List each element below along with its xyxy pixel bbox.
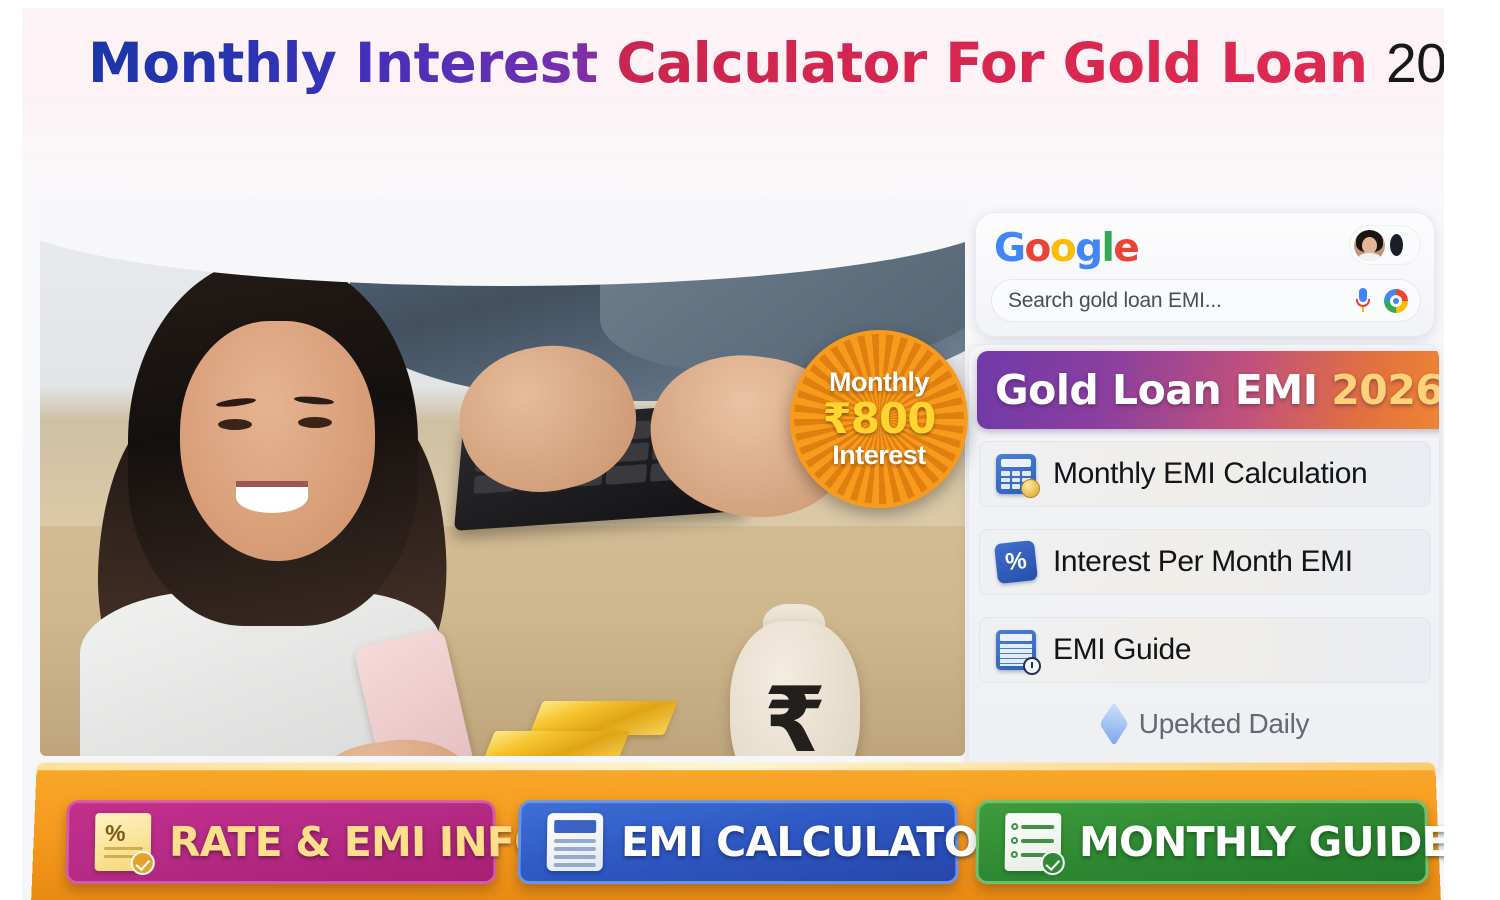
- google-logo-e: e: [1113, 226, 1138, 271]
- emi-calculator-label: EMI CALCULATOR: [621, 818, 1009, 866]
- top-margin: [0, 0, 1500, 8]
- google-logo-g1: G: [994, 226, 1025, 271]
- list-item[interactable]: % Interest Per Month EMI: [979, 529, 1431, 595]
- woman-smile: [236, 481, 308, 513]
- left-margin: [0, 0, 22, 900]
- calculator-coin-icon: [996, 454, 1036, 494]
- panel-banner-title: Gold Loan EMI 2026: [995, 366, 1440, 414]
- woman-face: [180, 321, 375, 561]
- banner-title-text: Gold Loan EMI: [995, 366, 1331, 414]
- badge-line-3: Interest: [832, 441, 926, 470]
- status-badge: Monthly ₹800 Interest: [790, 330, 968, 508]
- poster-canvas: Monthly Interest Calculator For Gold Loa…: [0, 0, 1500, 900]
- monthly-guide-button[interactable]: MONTHLY GUIDE: [975, 800, 1428, 884]
- title-part-calculator: Calculator For Gold Loan: [616, 31, 1386, 95]
- banner-year: 2026: [1331, 366, 1440, 414]
- gold-bars: [440, 701, 680, 756]
- list-item-label: EMI Guide: [1053, 633, 1191, 667]
- panel-footer-label: Upekted Daily: [1139, 708, 1309, 740]
- results-panel: Gold Loan EMI 2026 Monthly EMI Calculati…: [968, 344, 1440, 776]
- spreadsheet-clock-icon: [996, 630, 1036, 670]
- google-logo-g2: g: [1075, 226, 1101, 271]
- google-logo-l: l: [1102, 226, 1114, 271]
- google-logo-o1: o: [1025, 226, 1050, 271]
- microphone-icon[interactable]: [1355, 288, 1371, 313]
- monthly-guide-label: MONTHLY GUIDE: [1079, 818, 1449, 866]
- account-area[interactable]: [1349, 225, 1421, 265]
- google-logo-o2: o: [1050, 226, 1075, 271]
- title-part-interest: Interest: [355, 31, 616, 95]
- list-item[interactable]: EMI Guide: [979, 617, 1431, 683]
- rupee-symbol: ₹: [730, 666, 860, 756]
- percent-document-icon: %: [95, 813, 152, 871]
- avatar[interactable]: [1354, 230, 1385, 261]
- title-part-monthly: Monthly: [88, 31, 355, 95]
- checklist-icon: [1005, 813, 1062, 871]
- search-input[interactable]: Search gold loan EMI...: [991, 279, 1421, 322]
- right-margin: [1444, 0, 1500, 900]
- sparkle-icon: [1099, 702, 1128, 747]
- calculator-icon: [547, 813, 604, 871]
- page-title: Monthly Interest Calculator For Gold Loa…: [88, 22, 1388, 104]
- emi-calculator-button[interactable]: EMI CALCULATOR: [517, 800, 958, 884]
- rate-emi-info-button[interactable]: % RATE & EMI INFO: [65, 800, 496, 884]
- badge-amount: ₹800: [823, 397, 936, 442]
- search-placeholder: Search gold loan EMI...: [1008, 289, 1355, 313]
- list-item[interactable]: Monthly EMI Calculation: [979, 441, 1431, 507]
- google-logo: Google: [994, 227, 1138, 271]
- google-search-card: Google Search gold loan EMI...: [975, 212, 1435, 337]
- rate-emi-info-label: RATE & EMI INFO: [169, 818, 549, 866]
- panel-footer: Upekted Daily: [979, 695, 1431, 753]
- google-lens-icon[interactable]: [1384, 289, 1408, 313]
- list-item-label: Interest Per Month EMI: [1053, 545, 1353, 579]
- panel-banner: Gold Loan EMI 2026: [977, 351, 1440, 429]
- overflow-menu-icon[interactable]: [1390, 234, 1403, 256]
- badge-line-1: Monthly: [829, 368, 929, 397]
- percent-icon: %: [994, 540, 1038, 584]
- list-item-label: Monthly EMI Calculation: [1053, 457, 1367, 491]
